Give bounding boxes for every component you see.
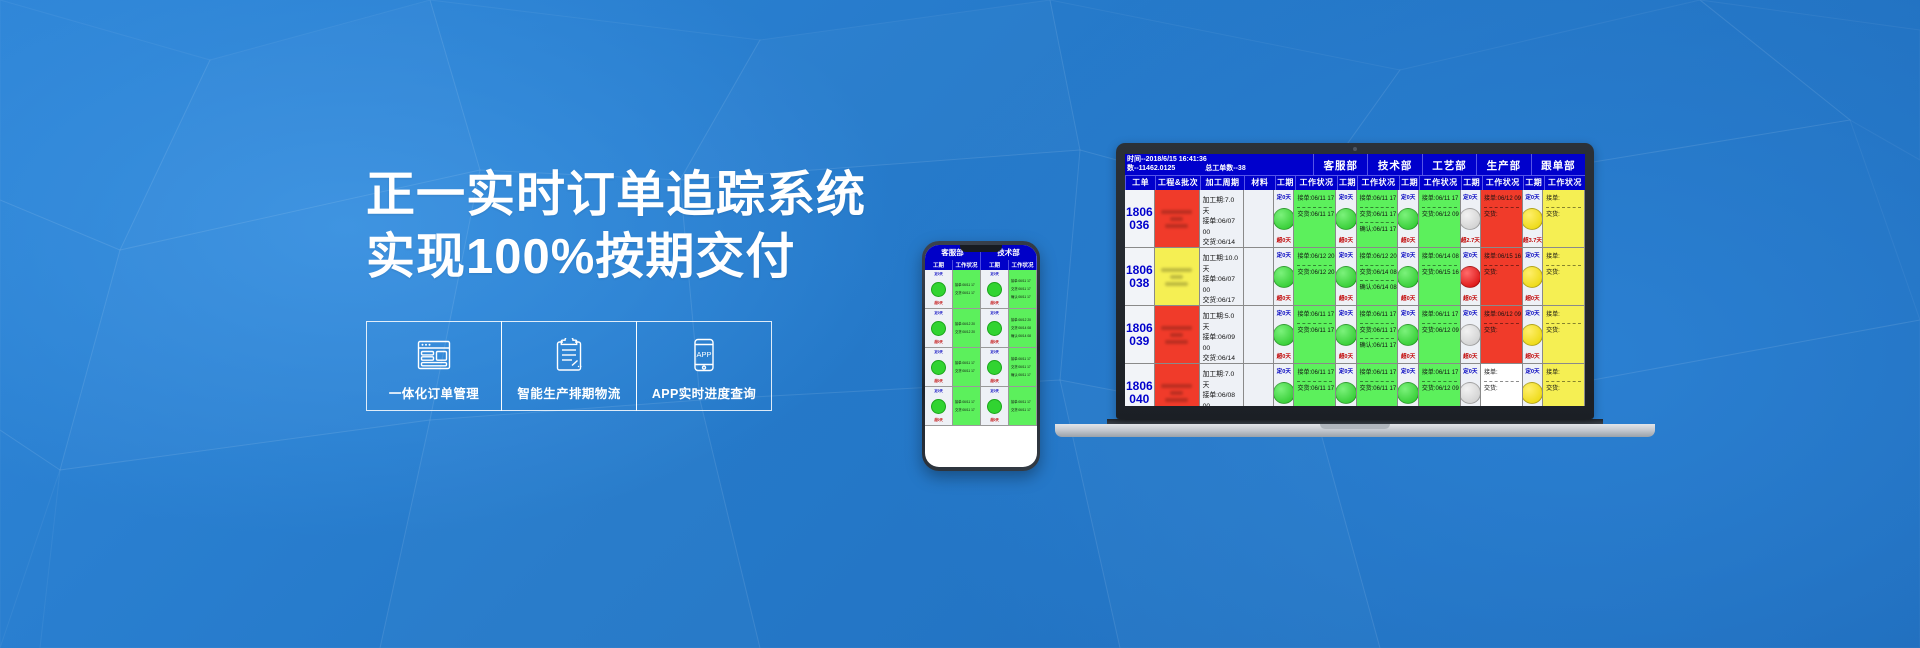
status-line: 交货:: [1546, 326, 1581, 337]
status-indicator-grey: [1461, 324, 1481, 346]
overdue-days-badge: 超0天: [1277, 294, 1291, 302]
duration-status-cell: 定0天超0天: [1398, 364, 1418, 406]
status-indicator-yellow: [1523, 382, 1543, 404]
duration-status-cell: 定0天超0天: [1274, 248, 1294, 305]
status-line: 交货:: [1484, 384, 1519, 395]
status-indicator-green: [1336, 208, 1356, 230]
headline-line-2: 实现100%按期交付: [366, 228, 886, 288]
phone-overdue-days-badge: 超0天: [934, 301, 942, 306]
work-status-cell: 接单:交货:: [1543, 364, 1585, 406]
cycle-line: 加工期:7.0天: [1203, 196, 1241, 217]
duration-status-cell: 定0天超0天: [1398, 190, 1418, 247]
status-indicator-green: [1274, 266, 1294, 288]
dashboard-col-header: 工期: [1275, 176, 1296, 190]
table-row[interactable]: 1806036加工期:7.0天接单:06/07 00交货:06/14 00定0天…: [1125, 190, 1585, 248]
overdue-days-badge: 超0天: [1463, 352, 1477, 360]
hero-banner: 正一实时订单追踪系统 实现100%按期交付 一体化订单管理: [0, 0, 1920, 648]
divider: [1360, 381, 1395, 382]
work-status-cell: 接单:06/12 20交货:06/14 08确认:06/14 08: [1357, 248, 1399, 305]
duration-status-cell: 定0天超0天: [1398, 248, 1418, 305]
processing-cycle-cell: 加工期:7.0天接单:06/07 00交货:06/14 00: [1200, 190, 1245, 247]
work-status-cell: 接单:06/11 17交货:06/11 17确认:06/11 17: [1357, 306, 1399, 363]
phone-notch: [960, 245, 1002, 252]
status-line: 接单:06/11 17: [1422, 368, 1457, 379]
project-batch-cell: [1155, 248, 1200, 305]
duration-status-cell: 定0天超0天: [1336, 248, 1356, 305]
duration-status-cell: 定0天超0天: [1274, 364, 1294, 406]
overdue-days-badge: 超0天: [1339, 294, 1353, 302]
fixed-days-badge: 定0天: [1525, 193, 1539, 201]
phone-status-line: 交货:06/11 17: [955, 291, 976, 296]
dashboard-col-header: 工作状况: [1419, 176, 1460, 190]
table-row[interactable]: 1806039加工期:5.0天接单:06/09 00交货:06/14 00定0天…: [1125, 306, 1585, 364]
dashboard-col-header: 工单: [1125, 176, 1155, 190]
divider: [1360, 222, 1395, 223]
divider: [1297, 265, 1332, 266]
status-line: 接单:06/15 16: [1484, 252, 1519, 263]
divider: [1360, 265, 1395, 266]
status-line: 接单:: [1546, 194, 1581, 205]
phone-status-indicator-green: [987, 399, 1002, 414]
divider: [1360, 323, 1395, 324]
laptop-screen[interactable]: 时间--2018/6/15 16:41:36 数--11462.0125 总工单…: [1125, 154, 1585, 406]
phone-status-line: 交货:06/11 17: [1011, 287, 1032, 292]
dashboard-col-header: 工期: [1337, 176, 1358, 190]
feature-label: 一体化订单管理: [389, 383, 479, 402]
status-line: 确认:06/11 17: [1360, 225, 1395, 236]
duration-status-cell: 定0天超0天: [1274, 190, 1294, 247]
status-line: 交货:: [1484, 268, 1519, 279]
work-status-cell: 接单:06/11 17交货:06/11 17: [1357, 364, 1399, 406]
work-status-cell: 接单:交货:: [1543, 248, 1585, 305]
dashboard-col-header: 工期: [1399, 176, 1420, 190]
cycle-line: 接单:06/08 00: [1203, 391, 1241, 406]
work-status-cell: 接单:06/11 17交货:06/11 17: [1294, 190, 1336, 247]
phone-fixed-days-badge: 定0天: [934, 389, 942, 394]
clipboard-checklist-icon: [554, 337, 584, 373]
dashboard-time: 时间--2018/6/15 16:41:36: [1127, 156, 1313, 165]
work-status-cell: 接单:交货:: [1543, 190, 1585, 247]
fixed-days-badge: 定0天: [1339, 251, 1353, 259]
fixed-days-badge: 定0天: [1463, 193, 1477, 201]
divider: [1297, 381, 1332, 382]
fixed-days-badge: 定0天: [1277, 309, 1291, 317]
overdue-days-badge: 超0天: [1401, 352, 1415, 360]
status-line: 交货:06/11 17: [1297, 210, 1332, 221]
status-line: 交货:06/11 17: [1297, 384, 1332, 395]
phone-table-row[interactable]: 定0天超0天接单:06/11 17交货:06/11 17定0天超0天接单:06/…: [925, 387, 1037, 426]
phone-fixed-days-badge: 定0天: [990, 350, 998, 355]
phone-fixed-days-badge: 定0天: [934, 311, 942, 316]
work-order-cell: 1806040: [1125, 364, 1155, 406]
status-indicator-yellow: [1523, 208, 1543, 230]
overdue-days-badge: 超0天: [1463, 294, 1477, 302]
cycle-line: 交货:06/17 00: [1203, 296, 1241, 305]
phone-duration-cell: 定0天超0天: [925, 270, 953, 308]
duration-status-cell: 定0天超0天: [1274, 306, 1294, 363]
divider: [1484, 207, 1519, 208]
cycle-line: 加工期:10.0天: [1203, 254, 1241, 275]
phone-status-line: 确认:06/14 08: [1011, 334, 1032, 339]
phone-overdue-days-badge: 超0天: [934, 379, 942, 384]
divider: [1422, 381, 1457, 382]
laptop-base: [1055, 424, 1655, 437]
fixed-days-badge: 定0天: [1401, 309, 1415, 317]
dashboard-col-header: 工期: [1523, 176, 1544, 190]
dashboard-col-header: 工程&批次: [1155, 176, 1200, 190]
phone-fixed-days-badge: 定0天: [990, 389, 998, 394]
phone-body: 客服部 技术部 工期 工作状况 工期 工作状况 定0天超0天接单:06/11 1…: [922, 241, 1040, 471]
phone-overdue-days-badge: 超0天: [934, 340, 942, 345]
phone-status-line: 接单:06/11 17: [955, 283, 976, 288]
overdue-days-badge: 超0天: [1277, 236, 1291, 244]
cycle-line: 交货:06/14 00: [1203, 238, 1241, 247]
mobile-app-icon: APP: [691, 337, 717, 373]
work-order-cell: 1806036: [1125, 190, 1155, 247]
duration-status-cell: 定0天超0天: [1461, 364, 1481, 406]
phone-subheader-cell: 工期: [981, 260, 1009, 270]
status-line: 交货:: [1546, 268, 1581, 279]
phone-work-status-cell: 接单:06/11 17交货:06/11 17: [953, 387, 981, 425]
feature-card-app-progress-query[interactable]: APP APP实时进度查询: [636, 321, 772, 411]
status-line: 接单:: [1546, 368, 1581, 379]
work-status-cell: 接单:06/15 16交货:: [1481, 248, 1523, 305]
status-line: 交货:: [1546, 384, 1581, 395]
status-line: 接单:06/11 17: [1297, 368, 1332, 379]
dashboard-col-header: 工作状况: [1357, 176, 1398, 190]
divider: [1484, 323, 1519, 324]
status-indicator-green: [1274, 324, 1294, 346]
dashboard-layout-icon: [417, 337, 451, 373]
phone-overdue-days-badge: 超0天: [934, 418, 942, 423]
table-row[interactable]: 1806038加工期:10.0天接单:06/07 00交货:06/17 00定0…: [1125, 248, 1585, 306]
status-line: 接单:: [1546, 252, 1581, 263]
dashboard-department-row: 客服部技术部工艺部生产部跟单部: [1313, 154, 1585, 175]
phone-table-row[interactable]: 定0天超0天接单:06/12 20交货:06/12 20定0天超0天接单:06/…: [925, 309, 1037, 348]
phone-status-line: 交货:06/11 17: [955, 408, 976, 413]
cycle-line: 加工期:7.0天: [1203, 370, 1241, 391]
fixed-days-badge: 定0天: [1277, 193, 1291, 201]
material-cell: [1244, 190, 1274, 247]
dashboard-col-header: 工作状况: [1482, 176, 1523, 190]
work-order-cell: 1806038: [1125, 248, 1155, 305]
status-line: 交货:: [1484, 326, 1519, 337]
duration-status-cell: 定0天超0天: [1461, 248, 1481, 305]
hero-copy: 正一实时订单追踪系统 实现100%按期交付: [366, 166, 886, 288]
overdue-days-badge: 超3.7天: [1523, 236, 1542, 244]
phone-duration-cell: 定0天超0天: [981, 309, 1009, 347]
fixed-days-badge: 定0天: [1525, 367, 1539, 375]
dashboard-column-header-row: 工单工程&批次加工周期材料工期工作状况工期工作状况工期工作状况工期工作状况工期工…: [1125, 175, 1585, 190]
duration-status-cell: 定0天超0天: [1336, 306, 1356, 363]
dashboard-dept-title: 生产部: [1476, 154, 1530, 175]
status-line: 交货:06/12 09: [1422, 210, 1457, 221]
phone-work-status-cell: 接单:06/12 20交货:06/12 20: [953, 309, 981, 347]
phone-duration-cell: 定0天超0天: [925, 309, 953, 347]
status-line: 交货:06/14 08: [1360, 268, 1395, 279]
phone-overdue-days-badge: 超0天: [990, 379, 998, 384]
cycle-line: 加工期:5.0天: [1203, 312, 1241, 333]
feature-label: APP实时进度查询: [652, 383, 756, 402]
fixed-days-badge: 定0天: [1401, 251, 1415, 259]
phone-work-status-cell: 接单:06/11 17交货:06/11 17确认:06/11 17: [1009, 270, 1037, 308]
dashboard-dept-title: 工艺部: [1422, 154, 1476, 175]
phone-status-indicator-green: [931, 282, 946, 297]
status-line: 交货:06/12 09: [1422, 326, 1457, 337]
phone-status-line: 接单:06/11 17: [1011, 357, 1032, 362]
phone-status-indicator-green: [931, 399, 946, 414]
divider: [1297, 323, 1332, 324]
phone-overdue-days-badge: 超0天: [990, 301, 998, 306]
phone-status-indicator-green: [931, 360, 946, 375]
work-status-cell: 接单:06/12 20交货:06/12 20: [1294, 248, 1336, 305]
status-line: 接单:: [1546, 310, 1581, 321]
fixed-days-badge: 定0天: [1401, 193, 1415, 201]
duration-status-cell: 定0天超0天: [1523, 248, 1543, 305]
divider: [1484, 381, 1519, 382]
phone-fixed-days-badge: 定0天: [934, 272, 942, 277]
status-line: 交货:06/11 17: [1297, 326, 1332, 337]
cycle-line: 交货:06/14 00: [1203, 354, 1241, 363]
status-line: 接单:06/11 17: [1360, 368, 1395, 379]
cycle-line: 接单:06/09 00: [1203, 333, 1241, 354]
status-line: 接单:06/11 17: [1360, 194, 1395, 205]
cycle-line: 接单:06/07 00: [1203, 217, 1241, 238]
phone-status-indicator-green: [931, 321, 946, 336]
phone-overdue-days-badge: 超0天: [990, 340, 998, 345]
status-line: 接单:06/12 20: [1297, 252, 1332, 263]
overdue-days-badge: 超0天: [1525, 294, 1539, 302]
cycle-line: 接单:06/07 00: [1203, 275, 1241, 296]
divider: [1422, 207, 1457, 208]
material-cell: [1244, 248, 1274, 305]
fixed-days-badge: 定0天: [1339, 367, 1353, 375]
phone-status-line: 接单:06/11 17: [955, 400, 976, 405]
feature-card-production-scheduling[interactable]: 智能生产排期物流: [501, 321, 637, 411]
phone-work-status-cell: 接单:06/12 20交货:06/14 08确认:06/14 08: [1009, 309, 1037, 347]
phone-status-line: 接单:06/11 17: [1011, 279, 1032, 284]
status-indicator-green: [1398, 324, 1418, 346]
work-status-cell: 接单:交货:: [1543, 306, 1585, 363]
phone-status-line: 交货:06/12 20: [955, 330, 976, 335]
status-line: 接单:06/11 17: [1422, 310, 1457, 321]
status-indicator-green: [1336, 324, 1356, 346]
phone-work-status-cell: 接单:06/11 17交货:06/11 17确认:06/11 17: [1009, 348, 1037, 386]
phone-work-status-cell: 接单:06/11 17交货:06/11 17: [953, 270, 981, 308]
phone-status-line: 接单:06/11 17: [1011, 400, 1032, 405]
phone-duration-cell: 定0天超0天: [981, 348, 1009, 386]
divider: [1546, 381, 1581, 382]
dashboard-table-body: 1806036加工期:7.0天接单:06/07 00交货:06/14 00定0天…: [1125, 190, 1585, 406]
status-indicator-green: [1398, 208, 1418, 230]
overdue-days-badge: 超0天: [1277, 352, 1291, 360]
divider: [1360, 280, 1395, 281]
divider: [1484, 265, 1519, 266]
phone-duration-cell: 定0天超0天: [925, 387, 953, 425]
status-indicator-green: [1274, 208, 1294, 230]
work-status-cell: 接单:06/11 17交货:06/11 17: [1294, 306, 1336, 363]
webcam-icon: [1353, 147, 1357, 151]
status-line: 交货:: [1546, 210, 1581, 221]
headline-line-1: 正一实时订单追踪系统: [366, 166, 886, 226]
phone-overdue-days-badge: 超0天: [990, 418, 998, 423]
work-status-cell: 接单:06/11 17交货:06/11 17确认:06/11 17: [1357, 190, 1399, 247]
dashboard-col-header: 加工周期: [1200, 176, 1245, 190]
status-line: 接单:06/12 09: [1484, 194, 1519, 205]
phone-status-line: 交货:06/11 17: [955, 369, 976, 374]
dashboard-col-header: 工期: [1461, 176, 1482, 190]
phone-status-line: 交货:06/14 08: [1011, 326, 1032, 331]
phone-status-line: 接单:06/12 20: [1011, 318, 1032, 323]
order-tracking-dashboard: 时间--2018/6/15 16:41:36 数--11462.0125 总工单…: [1125, 154, 1585, 406]
project-batch-cell: [1155, 190, 1200, 247]
phone-status-line: 确认:06/11 17: [1011, 295, 1032, 300]
status-line: 交货:06/11 17: [1360, 326, 1395, 337]
divider: [1360, 338, 1395, 339]
work-status-cell: 接单:06/11 17交货:06/12 09: [1419, 364, 1461, 406]
status-indicator-green: [1336, 266, 1356, 288]
work-status-cell: 接单:06/14 08交货:06/15 16: [1419, 248, 1461, 305]
status-line: 交货:06/15 16: [1422, 268, 1457, 279]
divider: [1546, 265, 1581, 266]
dashboard-col-header: 工作状况: [1295, 176, 1336, 190]
phone-status-line: 接单:06/12 20: [955, 322, 976, 327]
overdue-days-badge: 超0天: [1339, 352, 1353, 360]
status-line: 接单:06/11 17: [1422, 194, 1457, 205]
phone-status-line: 接单:06/11 17: [955, 361, 976, 366]
duration-status-cell: 定0天超0天: [1336, 190, 1356, 247]
project-batch-cell: [1155, 306, 1200, 363]
divider: [1546, 207, 1581, 208]
status-line: 交货:06/11 17: [1360, 210, 1395, 221]
overdue-days-badge: 超0天: [1401, 236, 1415, 244]
processing-cycle-cell: 加工期:5.0天接单:06/09 00交货:06/14 00: [1200, 306, 1245, 363]
processing-cycle-cell: 加工期:10.0天接单:06/07 00交货:06/17 00: [1200, 248, 1245, 305]
overdue-days-badge: 超0天: [1525, 352, 1539, 360]
work-status-cell: 接单:交货:: [1481, 364, 1523, 406]
duration-status-cell: 定0天超0天: [1336, 364, 1356, 406]
dashboard-col-header: 材料: [1244, 176, 1274, 190]
status-line: 接单:06/12 09: [1484, 310, 1519, 321]
work-status-cell: 接单:06/11 17交货:06/12 09: [1419, 190, 1461, 247]
fixed-days-badge: 定0天: [1401, 367, 1415, 375]
status-indicator-red: [1461, 266, 1481, 288]
work-status-cell: 接单:06/11 17交货:06/11 17: [1294, 364, 1336, 406]
phone-mockup: 客服部 技术部 工期 工作状况 工期 工作状况 定0天超0天接单:06/11 1…: [922, 241, 1040, 471]
phone-work-status-cell: 接单:06/11 17交货:06/11 17: [953, 348, 981, 386]
duration-status-cell: 定0天超3.7天: [1523, 190, 1543, 247]
status-indicator-yellow: [1523, 324, 1543, 346]
dashboard-header: 时间--2018/6/15 16:41:36 数--11462.0125 总工单…: [1125, 154, 1585, 190]
divider: [1422, 323, 1457, 324]
phone-status-line: 确认:06/11 17: [1011, 373, 1032, 378]
status-line: 接单:06/14 08: [1422, 252, 1457, 263]
status-line: 确认:06/11 17: [1360, 341, 1395, 352]
duration-status-cell: 定0天超2.7天: [1461, 190, 1481, 247]
phone-table-row[interactable]: 定0天超0天接单:06/11 17交货:06/11 17定0天超0天接单:06/…: [925, 270, 1037, 309]
status-indicator-grey: [1461, 208, 1481, 230]
phone-work-status-cell: 接单:06/11 17交货:06/11 17: [1009, 387, 1037, 425]
divider: [1422, 265, 1457, 266]
phone-subheader-cell: 工期: [925, 260, 953, 270]
phone-screen[interactable]: 客服部 技术部 工期 工作状况 工期 工作状况 定0天超0天接单:06/11 1…: [925, 245, 1037, 467]
dashboard-total-orders: 总工单数--38: [1205, 165, 1245, 174]
status-line: 接单:: [1484, 368, 1519, 379]
fixed-days-badge: 定0天: [1525, 251, 1539, 259]
status-line: 接单:06/11 17: [1297, 194, 1332, 205]
phone-duration-cell: 定0天超0天: [981, 270, 1009, 308]
status-indicator-green: [1398, 266, 1418, 288]
status-indicator-grey: [1461, 382, 1481, 404]
dashboard-dept-title: 跟单部: [1531, 154, 1585, 175]
feature-card-row: 一体化订单管理 智能生产排期物流: [366, 321, 771, 411]
feature-label: 智能生产排期物流: [517, 383, 620, 402]
status-line: 交货:06/12 20: [1297, 268, 1332, 279]
status-line: 交货:06/12 09: [1422, 384, 1457, 395]
phone-status-line: 交货:06/11 17: [1011, 408, 1032, 413]
fixed-days-badge: 定0天: [1277, 367, 1291, 375]
fixed-days-badge: 定0天: [1463, 251, 1477, 259]
phone-fixed-days-badge: 定0天: [990, 272, 998, 277]
status-indicator-green: [1398, 382, 1418, 404]
phone-subheader-cell: 工作状况: [953, 260, 981, 270]
dashboard-dept-title: 技术部: [1367, 154, 1421, 175]
fixed-days-badge: 定0天: [1525, 309, 1539, 317]
fixed-days-badge: 定0天: [1463, 367, 1477, 375]
divider: [1546, 323, 1581, 324]
overdue-days-badge: 超0天: [1401, 294, 1415, 302]
laptop-lid: 时间--2018/6/15 16:41:36 数--11462.0125 总工单…: [1116, 143, 1594, 419]
phone-status-line: 交货:06/11 17: [1011, 365, 1032, 370]
fixed-days-badge: 定0天: [1277, 251, 1291, 259]
status-indicator-yellow: [1523, 266, 1543, 288]
work-status-cell: 接单:06/12 09交货:: [1481, 190, 1523, 247]
work-status-cell: 接单:06/12 09交货:: [1481, 306, 1523, 363]
phone-fixed-days-badge: 定0天: [990, 311, 998, 316]
material-cell: [1244, 306, 1274, 363]
phone-table-row[interactable]: 定0天超0天接单:06/11 17交货:06/11 17定0天超0天接单:06/…: [925, 348, 1037, 387]
overdue-days-badge: 超2.7天: [1461, 236, 1480, 244]
work-status-cell: 接单:06/11 17交货:06/12 09: [1419, 306, 1461, 363]
overdue-days-badge: 超0天: [1339, 236, 1353, 244]
table-row[interactable]: 1806040加工期:7.0天接单:06/08 00交货:06/15 00定0天…: [1125, 364, 1585, 406]
dashboard-count: 数--11462.0125: [1127, 165, 1175, 174]
status-line: 确认:06/14 08: [1360, 283, 1395, 294]
phone-fixed-days-badge: 定0天: [934, 350, 942, 355]
status-line: 接单:06/11 17: [1360, 310, 1395, 321]
dashboard-meta: 时间--2018/6/15 16:41:36 数--11462.0125 总工单…: [1125, 154, 1313, 175]
phone-status-indicator-green: [987, 321, 1002, 336]
status-indicator-green: [1274, 382, 1294, 404]
feature-card-order-management[interactable]: 一体化订单管理: [366, 321, 502, 411]
status-line: 交货:: [1484, 210, 1519, 221]
divider: [1297, 207, 1332, 208]
divider: [1360, 207, 1395, 208]
project-batch-cell: [1155, 364, 1200, 406]
phone-status-indicator-green: [987, 282, 1002, 297]
material-cell: [1244, 364, 1274, 406]
fixed-days-badge: 定0天: [1339, 309, 1353, 317]
phone-subheader-cell: 工作状况: [1009, 260, 1037, 270]
phone-duration-cell: 定0天超0天: [981, 387, 1009, 425]
status-line: 接单:06/12 20: [1360, 252, 1395, 263]
status-line: 接单:06/11 17: [1297, 310, 1332, 321]
duration-status-cell: 定0天超0天: [1461, 306, 1481, 363]
fixed-days-badge: 定0天: [1463, 309, 1477, 317]
dashboard-col-header: 工作状况: [1544, 176, 1585, 190]
dashboard-dept-title: 客服部: [1313, 154, 1367, 175]
laptop-mockup: 时间--2018/6/15 16:41:36 数--11462.0125 总工单…: [1055, 143, 1655, 437]
